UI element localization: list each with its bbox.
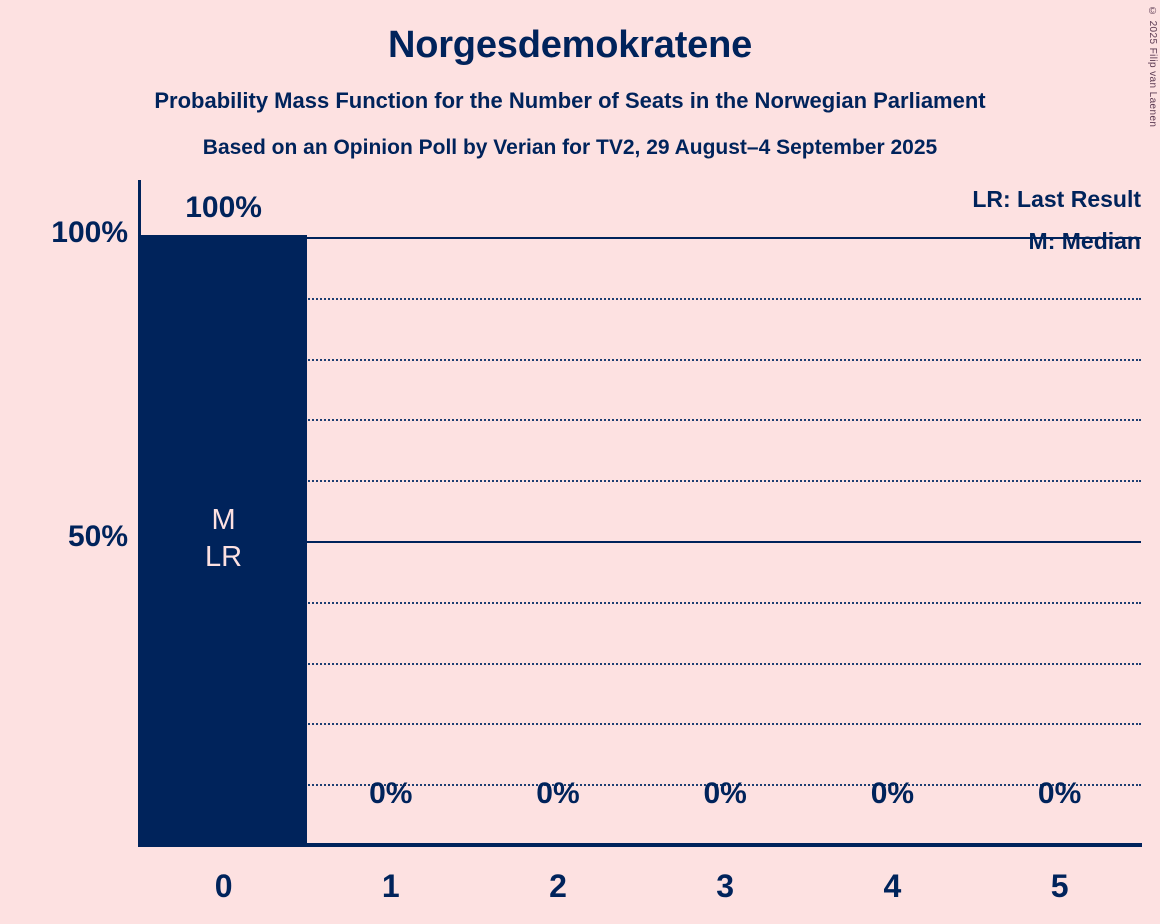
gridline-20 [305,723,1141,725]
plot-area: MLR100%0%0%0%0%0% [138,180,1142,847]
bar-value-label-5: 0% [976,777,1143,811]
gridline-60 [305,480,1141,482]
bar-value-label-0: 100% [140,191,307,225]
gridline-90 [305,298,1141,300]
bar-value-label-3: 0% [642,777,809,811]
gridline-30 [305,663,1141,665]
x-tick-label-1: 1 [307,868,474,905]
y-tick-label-100: 100% [10,216,128,250]
y-tick-label-50: 50% [10,520,128,554]
bar-mark-m: M [140,502,307,539]
chart-root: Norgesdemokratene Probability Mass Funct… [0,0,1160,924]
chart-subtitle-primary: Probability Mass Function for the Number… [0,88,1140,114]
bar-value-label-1: 0% [307,777,474,811]
x-tick-label-0: 0 [140,868,307,905]
x-tick-label-4: 4 [809,868,976,905]
bar-seat-0[interactable]: MLR [140,235,307,843]
x-tick-label-2: 2 [474,868,641,905]
chart-title: Norgesdemokratene [0,24,1140,67]
chart-subtitle-source: Based on an Opinion Poll by Verian for T… [0,136,1140,160]
x-tick-label-3: 3 [642,868,809,905]
bar-mark-lr: LR [140,539,307,576]
bar-value-label-2: 0% [474,777,641,811]
y-axis-line [138,180,141,845]
gridline-40 [305,602,1141,604]
bar-annotation-marks: MLR [140,502,307,576]
bar-value-label-4: 0% [809,777,976,811]
x-tick-label-5: 5 [976,868,1143,905]
copyright-notice: © 2025 Filip van Laenen [1147,6,1158,127]
gridline-70 [305,419,1141,421]
gridline-100 [305,237,1141,239]
gridline-80 [305,359,1141,361]
gridline-50 [305,541,1141,543]
x-axis-line [138,843,1142,847]
